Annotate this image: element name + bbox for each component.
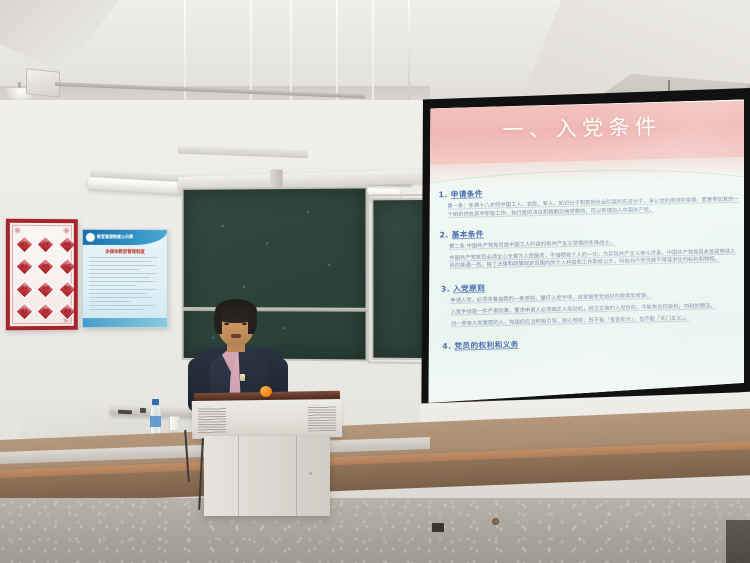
presenter-badge [240, 374, 245, 381]
lectern-cabinet [204, 436, 330, 516]
value-diamond: 和谐 [57, 234, 77, 255]
core-values-poster: 民主 文明 和谐 自由 平等 公正 法治 爱国 敬业 诚信 友善 富强 [6, 219, 78, 331]
notice-board-footer [83, 318, 167, 327]
projection-screen: 一、入党条件 1. 申请条件 第一条：年满十八岁的中国工人、农民、军人、知识分子… [418, 88, 750, 418]
notice-board-header-text: 教室管理制度公示牌 [97, 234, 133, 240]
poster-corner-ornament [13, 227, 22, 234]
lectern-speaker-grille-left [198, 407, 226, 433]
presenter-hair-side [214, 310, 222, 334]
presenter-eyebrow [223, 318, 230, 320]
lectern [192, 392, 342, 517]
floor-socket-round [492, 518, 499, 525]
bullet-dot-icon: · [443, 255, 445, 271]
bottle-label [150, 416, 161, 427]
bullet-dot-icon: · [445, 321, 447, 329]
screen-surface: 一、入党条件 1. 申请条件 第一条：年满十八岁的中国工人、农民、军人、知识分子… [426, 98, 744, 406]
value-diamond: 敬业 [57, 278, 77, 299]
value-diamond: 公正 [57, 256, 77, 277]
value-diamond: 富强 [57, 301, 77, 322]
value-diamond: 民主 [14, 234, 35, 255]
lectern-lock [309, 472, 312, 475]
value-diamond: 自由 [14, 256, 35, 277]
core-values-diamond-grid: 民主 文明 和谐 自由 平等 公正 法治 爱国 敬业 诚信 友善 富强 [14, 234, 78, 322]
bullet-dot-icon: · [444, 298, 446, 306]
notice-board-body [89, 257, 161, 313]
value-diamond: 平等 [36, 256, 57, 277]
terrazzo-floor [0, 498, 750, 563]
bullet-dot-icon: · [443, 244, 445, 252]
chalk-tray-item [118, 410, 132, 414]
value-diamond: 爱国 [36, 278, 57, 299]
classroom-photo: 民主 文明 和谐 自由 平等 公正 法治 爱国 敬业 诚信 友善 富强 教室管理… [0, 0, 750, 563]
presenter-eyebrow [241, 318, 248, 320]
value-diamond: 友善 [36, 301, 57, 322]
notice-board-poster: 教室管理制度公示牌 多媒体教室管理制度 [82, 229, 168, 328]
poster-corner-ornament [62, 227, 71, 234]
notice-board-title: 多媒体教室管理制度 [83, 249, 167, 255]
bullet-dot-icon: · [445, 309, 447, 317]
slide-body: 1. 申请条件 第一条：年满十八岁的中国工人、农民、军人、知识分子和其他社会阶层… [438, 183, 742, 356]
floor-shadow-right [726, 520, 750, 563]
lectern-panel-seam [238, 436, 239, 516]
presenter-hair-side [248, 310, 257, 334]
chalk-tray-item [140, 408, 146, 413]
value-diamond: 诚信 [14, 301, 35, 322]
presenter-mouth [231, 334, 241, 338]
value-diamond: 法治 [14, 279, 35, 300]
hanging-wire [408, 0, 410, 110]
floor-socket [432, 523, 444, 532]
lectern-panel-seam [296, 436, 297, 516]
value-diamond: 文明 [36, 234, 57, 255]
lectern-speaker-grille-right [308, 405, 336, 431]
university-logo-icon [86, 233, 95, 242]
paper-cup [169, 416, 180, 431]
lectern-front-panel [192, 399, 343, 439]
ceiling-beam-left [0, 0, 120, 72]
microphone-icon [260, 386, 272, 397]
presentation-slide: 一、入党条件 1. 申请条件 第一条：年满十八岁的中国工人、农民、军人、知识分子… [426, 98, 744, 406]
